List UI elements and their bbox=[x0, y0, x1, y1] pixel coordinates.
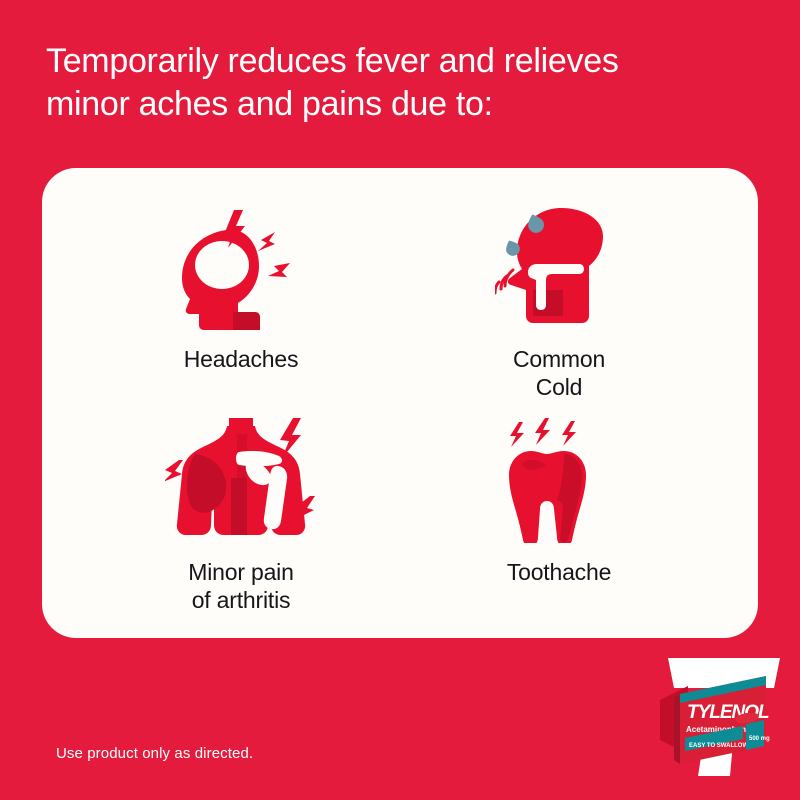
box-banner-text: EASY TO SWALLOW bbox=[689, 743, 748, 749]
head-lightning-icon bbox=[174, 200, 309, 330]
head-sneeze-icon bbox=[495, 200, 623, 330]
label-line-1: Toothache bbox=[507, 559, 611, 585]
symptom-label-toothache: Toothache bbox=[507, 559, 611, 587]
symptom-item-common-cold: Common Cold bbox=[400, 186, 718, 405]
symptom-label-headaches: Headaches bbox=[184, 346, 299, 374]
tylenol-box: TYLENOL Acetaminophen EASY TO SWALLOW 50… bbox=[674, 676, 770, 764]
symptoms-card: Headaches bbox=[42, 168, 758, 638]
label-line-1: Common bbox=[513, 346, 605, 372]
label-line-2: of arthritis bbox=[192, 587, 291, 613]
label-line-1: Headaches bbox=[184, 346, 299, 372]
page-headline: Temporarily reduces fever and relieves m… bbox=[46, 40, 766, 126]
symptom-label-arthritis: Minor pain of arthritis bbox=[188, 559, 293, 614]
symptom-item-arthritis: Minor pain of arthritis bbox=[82, 405, 400, 624]
disclaimer-text: Use product only as directed. bbox=[56, 745, 253, 762]
label-line-1: Minor pain bbox=[188, 559, 293, 585]
symptoms-grid: Headaches bbox=[42, 168, 758, 638]
shoulder-bones-icon bbox=[165, 413, 317, 543]
headline-line-2: minor aches and pains due to: bbox=[46, 83, 766, 126]
symptom-item-headaches: Headaches bbox=[82, 186, 400, 405]
tooth-lightning-icon bbox=[498, 413, 620, 543]
symptom-label-common-cold: Common Cold bbox=[513, 346, 605, 401]
box-dose-text: 500 mg bbox=[749, 736, 770, 742]
tylenol-product-image: TYLENOL Acetaminophen EASY TO SWALLOW 50… bbox=[646, 652, 796, 792]
label-line-2: Cold bbox=[536, 374, 583, 400]
headline-line-1: Temporarily reduces fever and relieves bbox=[46, 42, 619, 80]
box-brand-text: TYLENOL bbox=[687, 702, 769, 723]
symptom-item-toothache: Toothache bbox=[400, 405, 718, 624]
